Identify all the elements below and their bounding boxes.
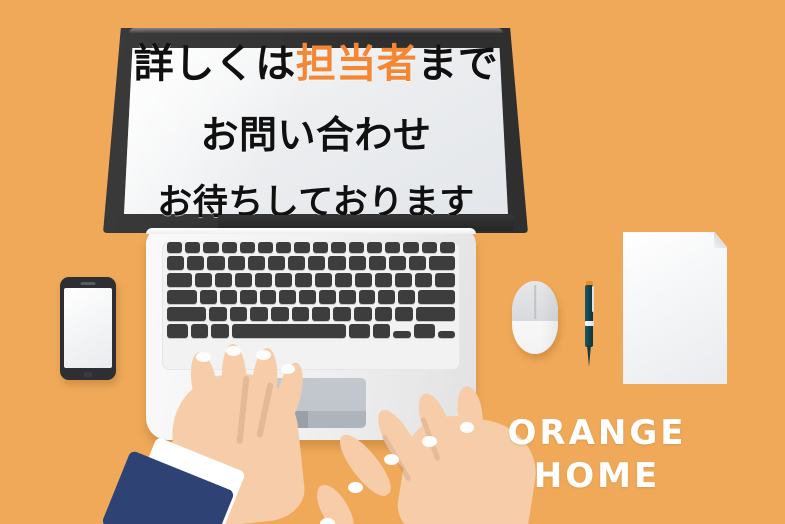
- key: [228, 256, 245, 270]
- keyboard-row: [162, 290, 460, 304]
- key-arrow-right: [438, 331, 455, 338]
- key: [230, 307, 248, 321]
- paper-sheet: [623, 232, 727, 384]
- key: [395, 307, 413, 321]
- key: [292, 307, 310, 321]
- phone-speaker-icon: [81, 282, 96, 285]
- mouse-shading: [541, 281, 558, 354]
- key-shift-left: [167, 307, 206, 321]
- keyboard-row: [162, 242, 460, 253]
- key: [403, 242, 418, 253]
- key: [200, 290, 217, 304]
- keyboard-row: [162, 256, 460, 270]
- key-arrow-left: [393, 331, 410, 338]
- key: [187, 256, 204, 270]
- keyboard-row: [162, 324, 460, 338]
- key: [222, 242, 237, 253]
- key: [255, 273, 272, 287]
- key: [308, 256, 325, 270]
- key: [378, 290, 395, 304]
- key-backspace: [429, 256, 455, 270]
- key: [315, 273, 332, 287]
- key: [312, 307, 330, 321]
- key: [367, 242, 382, 253]
- key: [385, 242, 400, 253]
- fingernail: [196, 352, 211, 362]
- phone-home-button[interactable]: [84, 372, 93, 377]
- key: [220, 290, 237, 304]
- key: [240, 290, 257, 304]
- key-alt-right: [349, 324, 370, 338]
- fingernail: [348, 482, 363, 493]
- key: [409, 256, 426, 270]
- key-fn: [191, 324, 208, 338]
- key: [349, 242, 364, 253]
- key: [354, 307, 372, 321]
- key: [415, 273, 432, 287]
- key: [240, 242, 255, 253]
- key: [398, 290, 415, 304]
- pen-tip: [587, 345, 591, 367]
- key: [435, 273, 455, 287]
- key: [395, 273, 412, 287]
- key: [333, 307, 351, 321]
- key: [331, 242, 346, 253]
- key: [250, 307, 268, 321]
- fingernail: [281, 364, 295, 374]
- mouse-button-divider: [534, 285, 536, 319]
- key: [295, 273, 312, 287]
- promo-banner: 詳しくは担当者まで お問い合わせ お待ちしております: [0, 0, 785, 524]
- key: [328, 256, 345, 270]
- key-ctrl: [167, 324, 188, 338]
- key: [258, 242, 273, 253]
- key: [299, 290, 316, 304]
- key: [209, 307, 227, 321]
- key-arrow-updown: [414, 324, 435, 338]
- smartphone[interactable]: [60, 277, 116, 380]
- ballpoint-pen: [582, 277, 596, 371]
- key: [422, 242, 437, 253]
- key: [335, 273, 352, 287]
- key: [215, 273, 232, 287]
- phone-screen[interactable]: [64, 288, 112, 368]
- fingernail: [384, 454, 399, 465]
- keyboard-row: [162, 273, 460, 287]
- key: [248, 256, 265, 270]
- key: [440, 242, 455, 253]
- key: [276, 242, 291, 253]
- computer-mouse[interactable]: [512, 281, 558, 354]
- key-shift-right: [416, 307, 455, 321]
- base-lip: [146, 228, 476, 234]
- keyboard-row: [162, 307, 460, 321]
- fingernail: [256, 350, 271, 360]
- key-menu: [373, 324, 390, 338]
- key: [268, 256, 285, 270]
- key: [355, 273, 372, 287]
- key: [279, 290, 296, 304]
- key: [167, 242, 182, 253]
- key: [207, 256, 224, 270]
- key: [167, 256, 184, 270]
- key: [185, 242, 200, 253]
- screen-sheen: [124, 48, 335, 214]
- fingernail: [422, 436, 437, 447]
- key: [313, 242, 328, 253]
- key-capslock: [167, 290, 197, 304]
- pen-clip: [592, 286, 594, 312]
- key: [375, 307, 393, 321]
- key: [339, 290, 356, 304]
- fingernail: [226, 346, 241, 356]
- key: [195, 273, 212, 287]
- fingernail: [320, 518, 335, 524]
- key: [389, 256, 406, 270]
- brand-wordmark: ORANGE HOME: [497, 412, 697, 497]
- key: [275, 273, 292, 287]
- key: [235, 273, 252, 287]
- key: [271, 307, 289, 321]
- key: [349, 256, 366, 270]
- key: [260, 290, 277, 304]
- fingernail: [460, 422, 474, 433]
- key: [288, 256, 305, 270]
- key-space: [232, 324, 346, 338]
- laptop-keyboard[interactable]: [162, 242, 460, 370]
- key-enter: [418, 290, 455, 304]
- key: [359, 290, 376, 304]
- laptop-screen: [124, 48, 508, 214]
- brand-line-2: HOME: [497, 455, 697, 498]
- key: [369, 256, 386, 270]
- key: [294, 242, 309, 253]
- key-alt: [211, 324, 228, 338]
- pen-band: [585, 321, 594, 326]
- key-tab: [167, 273, 192, 287]
- key: [203, 242, 218, 253]
- key: [319, 290, 336, 304]
- key: [375, 273, 392, 287]
- brand-line-1: ORANGE: [497, 412, 697, 455]
